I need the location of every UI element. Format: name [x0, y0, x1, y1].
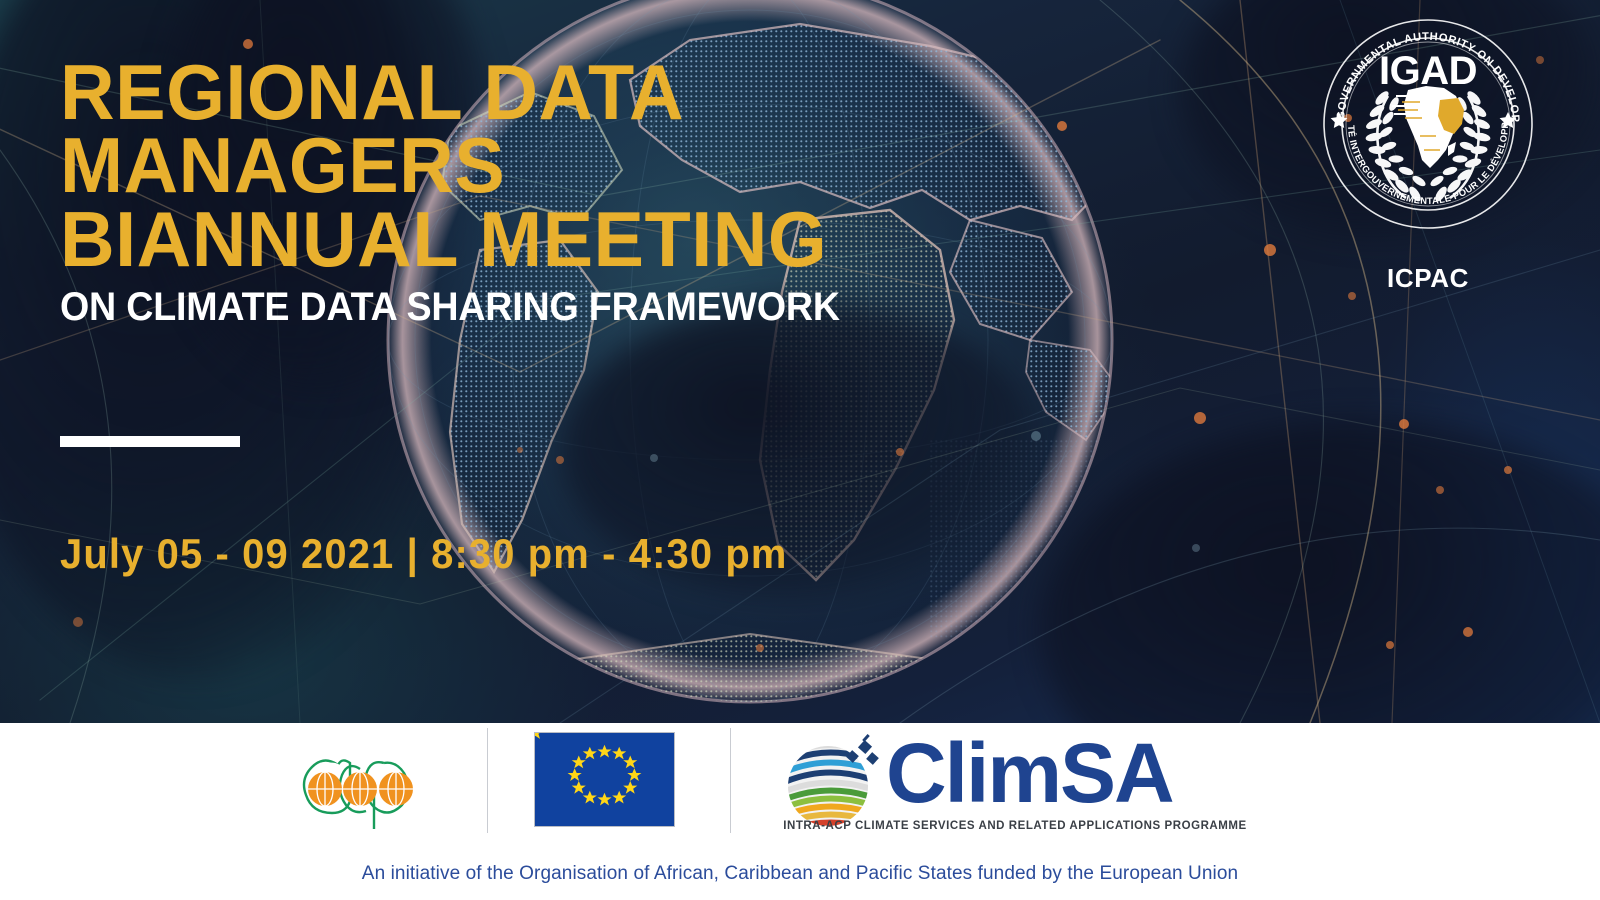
- climsa-wordmark: ClimSA: [886, 731, 1173, 815]
- icpac-label: ICPAC: [1322, 263, 1534, 294]
- climsa-logo: ClimSA INTRA-ACP CLIMATE SERVICES AND RE…: [780, 727, 1250, 839]
- event-banner: REGIONAL DATA MANAGERS BIANNUAL MEETING …: [0, 0, 1600, 900]
- footer: ClimSA INTRA-ACP CLIMATE SERVICES AND RE…: [0, 723, 1600, 900]
- partner-logo-row: ClimSA INTRA-ACP CLIMATE SERVICES AND RE…: [0, 723, 1600, 838]
- headline-block: REGIONAL DATA MANAGERS BIANNUAL MEETING …: [60, 56, 960, 328]
- event-datetime: July 05 - 09 2021 | 8:30 pm - 4:30 pm: [60, 530, 788, 578]
- title-line-1: REGIONAL DATA: [60, 56, 933, 129]
- acp-logo: [292, 739, 442, 831]
- satellite-icon: [846, 734, 879, 765]
- divider-line: [730, 728, 731, 833]
- title-line-2: MANAGERS: [60, 129, 933, 202]
- climsa-globe-icon: [780, 730, 886, 830]
- africa-map-icon: [1392, 86, 1464, 168]
- hero-background: REGIONAL DATA MANAGERS BIANNUAL MEETING …: [0, 0, 1600, 723]
- eu-flag: [534, 732, 675, 827]
- event-subtitle: ON CLIMATE DATA SHARING FRAMEWORK: [60, 286, 906, 328]
- divider-line: [487, 728, 488, 833]
- igad-logo: INTERGOVERNMENTAL AUTHORITY ON DEVELOPME…: [1322, 18, 1534, 230]
- divider-bar: [60, 436, 240, 447]
- title-line-3: BIANNUAL MEETING: [60, 203, 933, 276]
- climsa-tagline: INTRA-ACP CLIMATE SERVICES AND RELATED A…: [780, 820, 1250, 832]
- footer-note: An initiative of the Organisation of Afr…: [0, 863, 1600, 885]
